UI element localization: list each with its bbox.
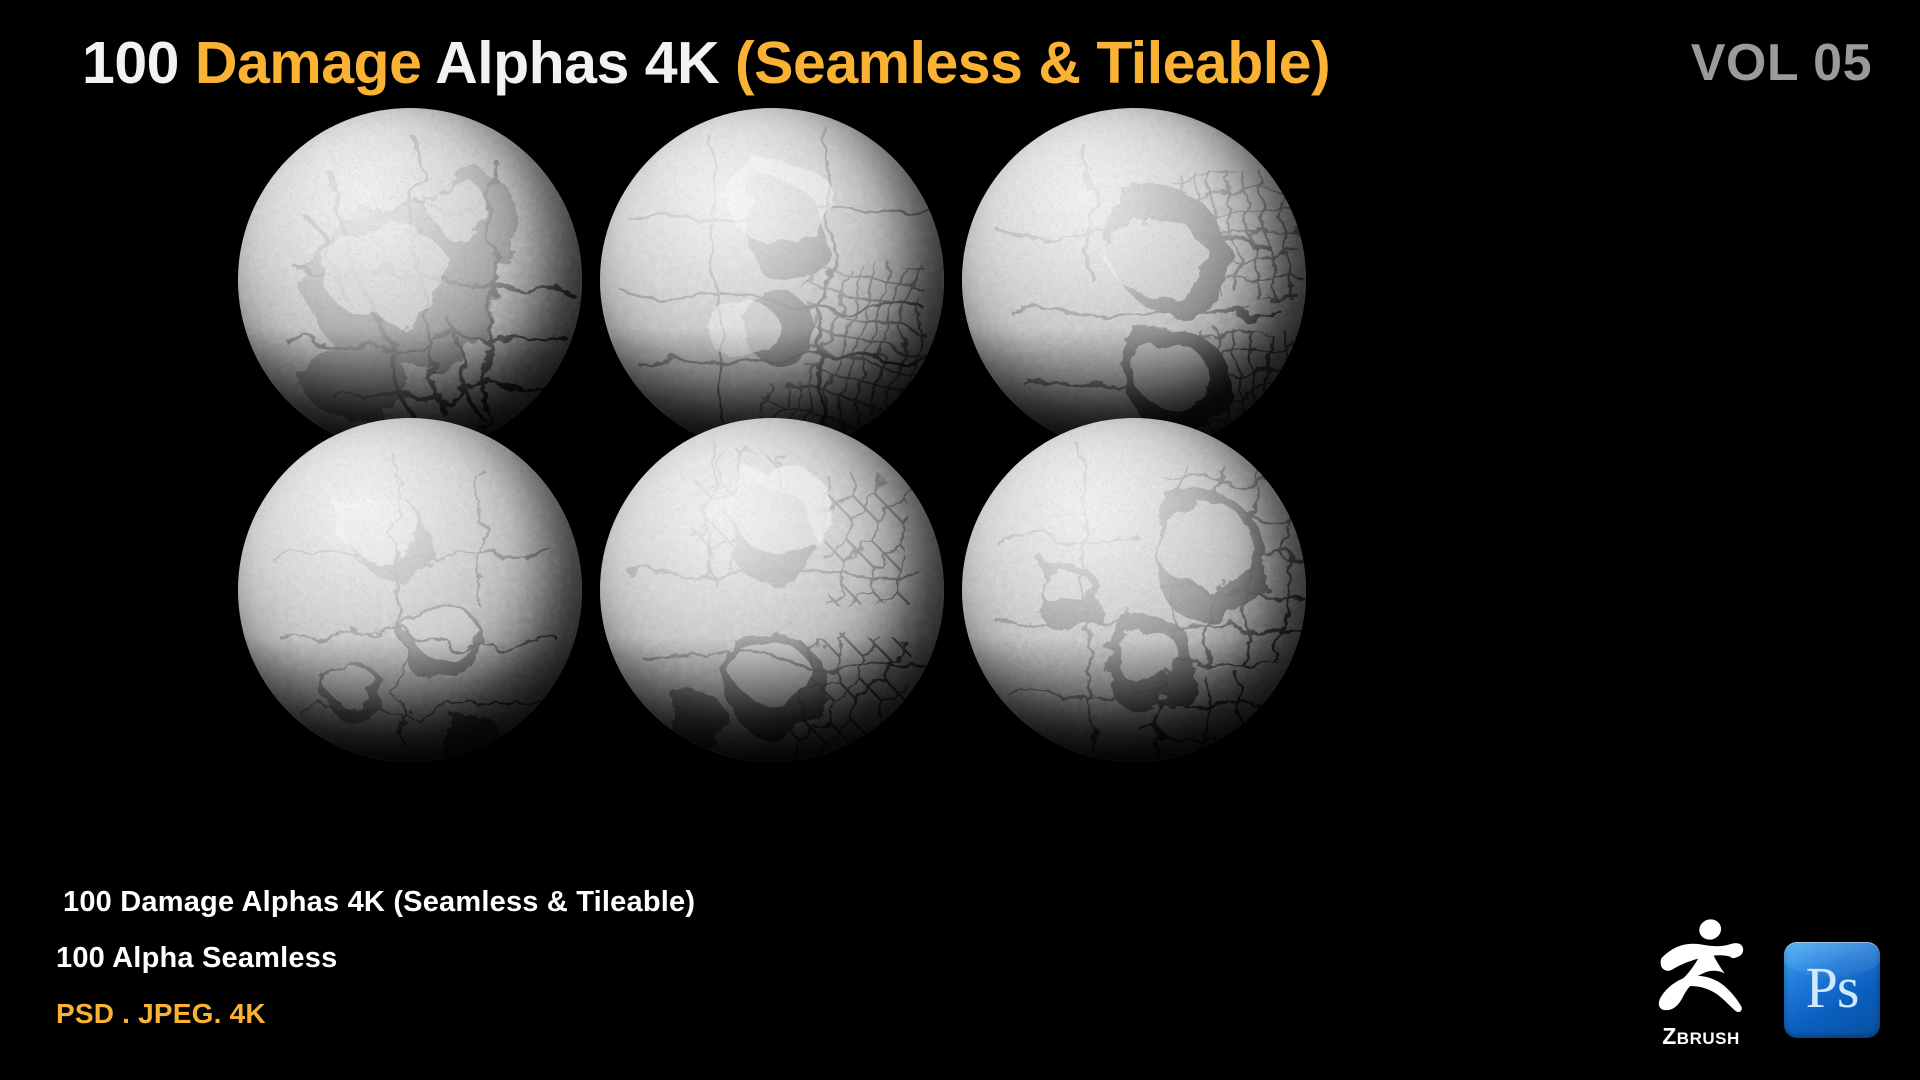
- sphere-body-5: [600, 418, 944, 762]
- damage-detail-overlay-5: [600, 418, 944, 762]
- title-segment-seamless: (Seamless & Tileable): [735, 30, 1330, 96]
- sphere-body-1: [238, 108, 582, 452]
- sphere-shading-5: [600, 418, 944, 762]
- sphere-bottom-fade-2: [600, 328, 944, 452]
- info-line-product-name: 100 Damage Alphas 4K (Seamless & Tileabl…: [56, 874, 1056, 930]
- sphere-shading-4: [238, 418, 582, 762]
- damage-texture-overlay-5: [600, 418, 944, 762]
- volume-label: VOL 05: [1691, 26, 1872, 100]
- zbrush-wordmark-z: Z: [1662, 1023, 1677, 1049]
- zbrush-figure-icon: [1646, 915, 1756, 1021]
- sphere-bottom-fade-4: [238, 638, 582, 762]
- damage-texture-overlay-6: [962, 418, 1306, 762]
- poster-title-row: 100 Damage Alphas 4K (Seamless & Tileabl…: [0, 26, 1920, 100]
- sphere-shading-6: [962, 418, 1306, 762]
- sphere-body-2: [600, 108, 944, 452]
- info-line-alpha-count: 100 Alpha Seamless: [56, 930, 1056, 986]
- zbrush-wordmark: ZBRUSH: [1662, 1023, 1740, 1052]
- sphere-body-6: [962, 418, 1306, 762]
- sphere-preview-1: [238, 108, 582, 452]
- sphere-preview-4: [238, 418, 582, 762]
- sphere-bottom-fade-6: [962, 638, 1306, 762]
- damage-texture-overlay-3: [962, 108, 1306, 452]
- page-title: 100 Damage Alphas 4K (Seamless & Tileabl…: [82, 26, 1330, 100]
- damage-detail-overlay-2: [600, 108, 944, 452]
- photoshop-logo: Ps: [1784, 942, 1880, 1038]
- product-info-block: 100 Damage Alphas 4K (Seamless & Tileabl…: [56, 874, 1056, 1042]
- sphere-bottom-fade-5: [600, 638, 944, 762]
- sphere-shading-2: [600, 108, 944, 452]
- damage-detail-overlay-1: [238, 108, 582, 452]
- title-segment-count: 100: [82, 30, 195, 96]
- zbrush-wordmark-rest: BRUSH: [1677, 1029, 1740, 1048]
- title-segment-damage: Damage: [195, 30, 435, 96]
- sphere-preview-6: [962, 418, 1306, 762]
- sphere-bottom-fade-1: [238, 328, 582, 452]
- sphere-body-4: [238, 418, 582, 762]
- damage-detail-overlay-3: [962, 108, 1306, 452]
- damage-texture-overlay-4: [238, 418, 582, 762]
- damage-texture-overlay-2: [600, 108, 944, 452]
- sphere-preview-2: [600, 108, 944, 452]
- title-segment-alphas: Alphas 4K: [435, 30, 735, 96]
- sphere-shading-1: [238, 108, 582, 452]
- damage-detail-overlay-6: [962, 418, 1306, 762]
- photoshop-wordmark: Ps: [1806, 959, 1859, 1017]
- sphere-preview-5: [600, 418, 944, 762]
- poster-canvas: 100 Damage Alphas 4K (Seamless & Tileabl…: [0, 0, 1920, 1080]
- software-logo-row: ZBRUSH Ps: [1640, 892, 1880, 1052]
- damage-texture-overlay-1: [238, 108, 582, 452]
- sphere-shading-3: [962, 108, 1306, 452]
- info-line-formats: PSD . JPEG. 4K: [56, 986, 1056, 1042]
- sphere-bottom-fade-3: [962, 328, 1306, 452]
- zbrush-logo: ZBRUSH: [1640, 902, 1762, 1052]
- damage-detail-overlay-4: [238, 418, 582, 762]
- sphere-preview-3: [962, 108, 1306, 452]
- sphere-body-3: [962, 108, 1306, 452]
